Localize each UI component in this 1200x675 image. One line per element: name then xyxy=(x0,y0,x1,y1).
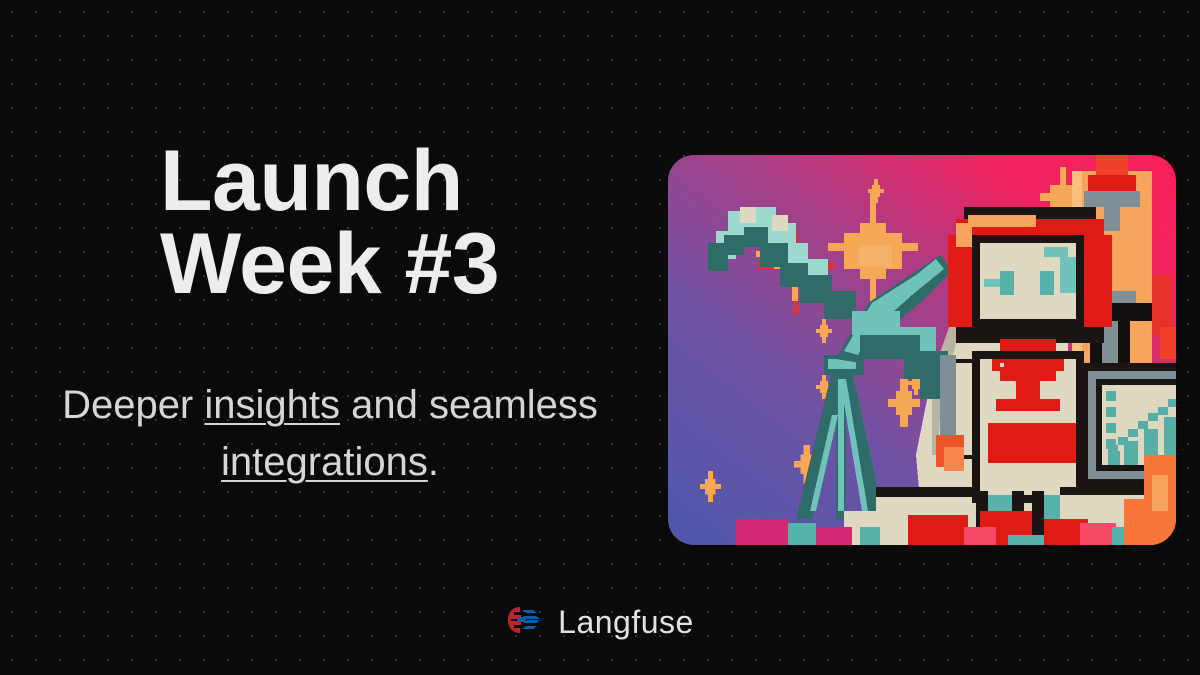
brand-footer: Langfuse xyxy=(0,604,1200,641)
brand-name: Langfuse xyxy=(558,604,694,641)
subtitle-text-3: . xyxy=(428,440,439,484)
page-title: Launch Week #3 xyxy=(0,140,660,305)
subtitle-text-1: Deeper xyxy=(62,383,204,427)
subtitle-emphasis-integrations: integrations xyxy=(221,440,428,484)
subtitle-text-2: and seamless xyxy=(340,383,598,427)
subtitle-emphasis-insights: insights xyxy=(204,383,340,427)
langfuse-logo-icon xyxy=(506,605,544,640)
hero-illustration xyxy=(668,155,1176,545)
launch-week-promo-card: Launch Week #3 Deeper insights and seaml… xyxy=(0,0,1200,675)
hero-subtitle: Deeper insights and seamless integration… xyxy=(0,305,660,491)
hero-text-column: Launch Week #3 Deeper insights and seaml… xyxy=(0,140,660,491)
pixel-art-scene xyxy=(668,155,1176,545)
